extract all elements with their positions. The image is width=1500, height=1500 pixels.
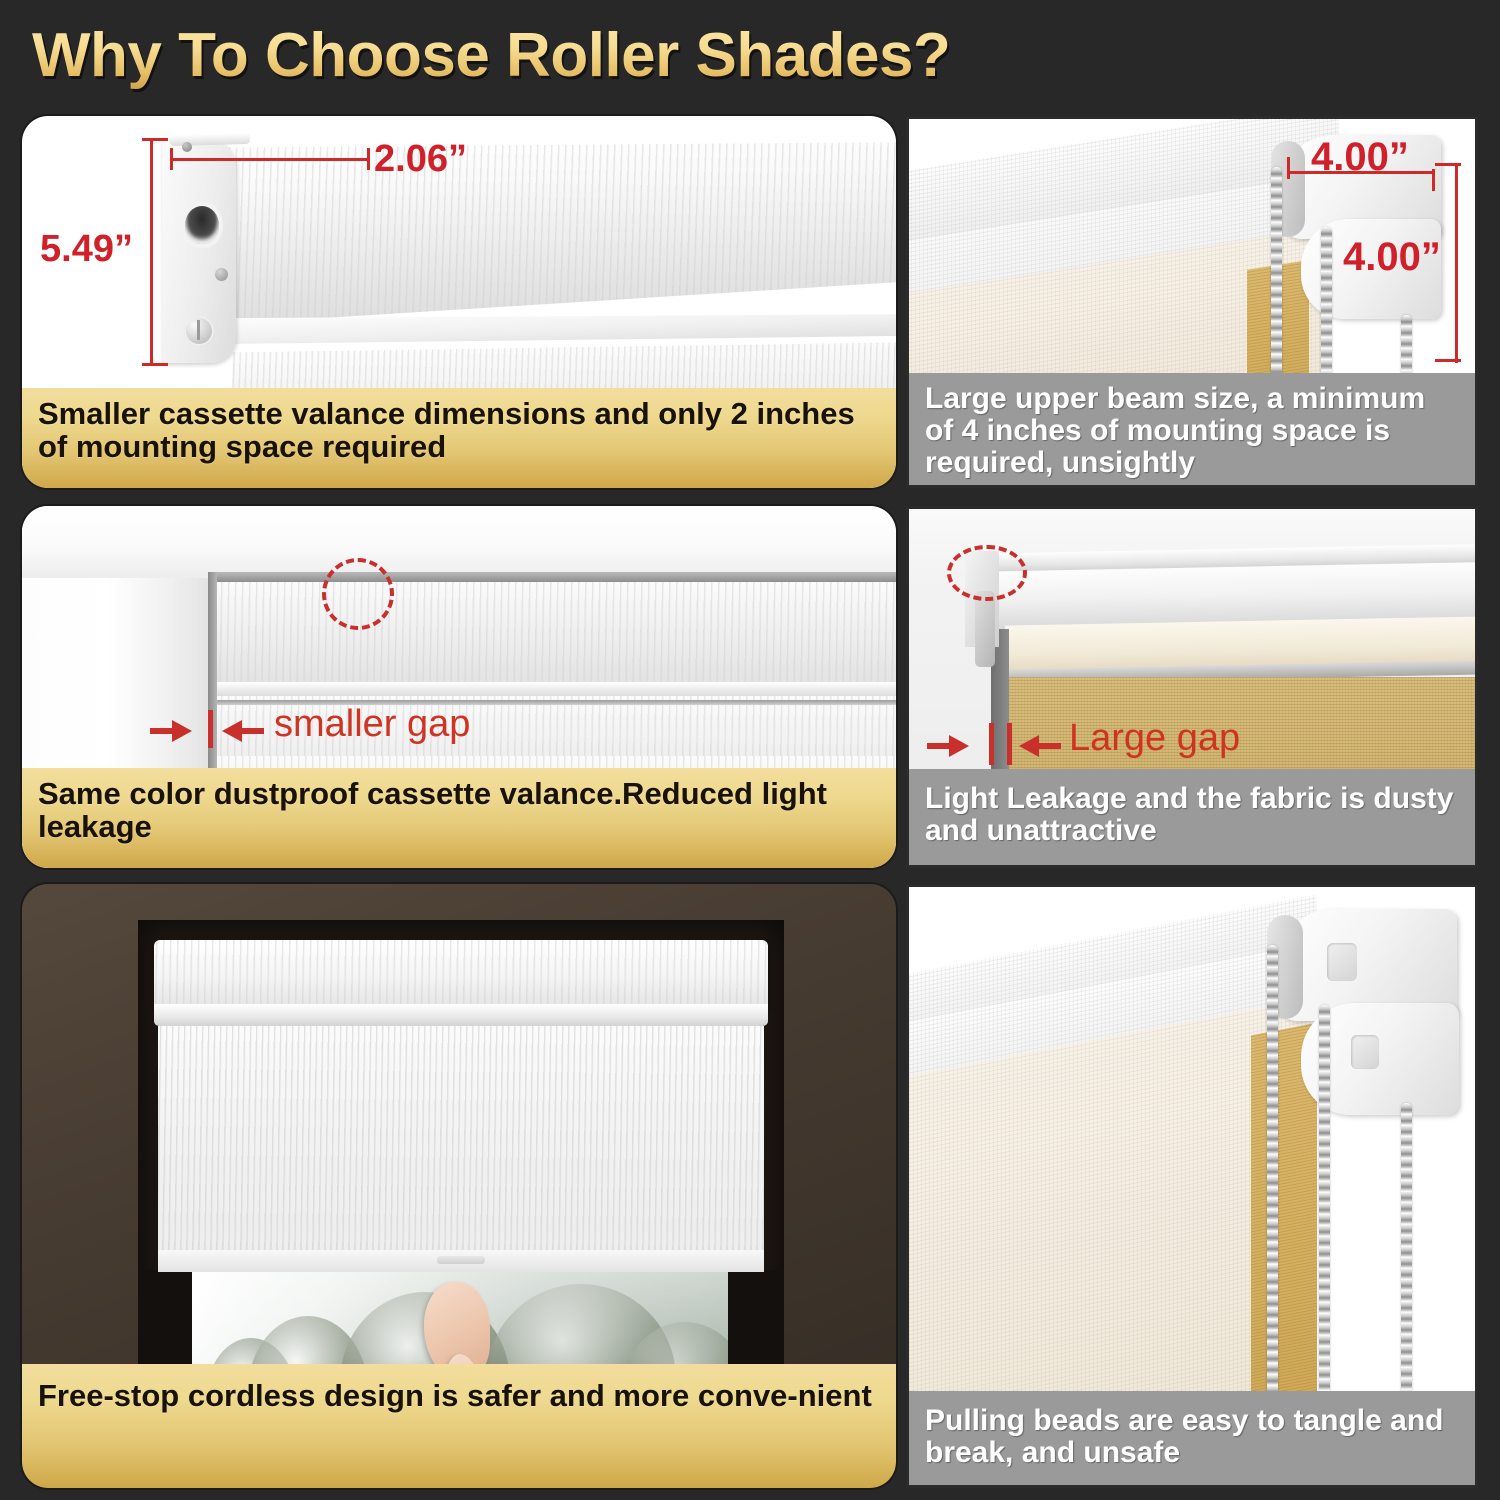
height-tick-bottom [142,363,168,366]
gap-arrow-left-stem [927,743,949,749]
cassette-headrail-lip [154,1004,768,1026]
depth-tick-right [367,148,370,170]
height-dimension-line [150,138,153,366]
cassette-top-screw [182,142,192,152]
window-frame-top [22,506,896,578]
callout-circle-leak [947,545,1027,601]
callout-circle-gap [322,558,394,630]
caption-pro-cordless-design: Free-stop cordless design is safer and m… [22,1364,896,1488]
cassette-end-cap [162,138,236,363]
gap-marker-bar-outer [989,723,994,765]
valance-top-edge [212,572,896,582]
bracket-slot-lower [1351,1035,1379,1069]
panel-pro-dustproof-valance: smaller gap Same color dustproof cassett… [22,506,896,868]
beam-height-label: 4.00” [1343,235,1441,280]
panel-con-light-leakage: Large gap Light Leakage and the fabric i… [906,506,1478,868]
page-title: Why To Choose Roller Shades? [32,20,950,91]
gap-arrow-left-stem [150,728,172,734]
gap-arrow-right-head [222,720,242,742]
caption-con-pulling-beads: Pulling beads are easy to tangle and bre… [909,1391,1475,1485]
gap-marker-bar [208,710,213,748]
valance-left-bracket [975,591,995,667]
caption-con-upper-beam-size: Large upper beam size, a minimum of 4 in… [909,373,1475,485]
depth-dimension-label: 2.06” [374,138,467,181]
depth-dimension-line [170,158,370,161]
caption-pro-cassette-size: Smaller cassette valance dimensions and … [22,388,896,488]
gap-arrow-left-head [172,720,192,742]
infographic-root: Why To Choose Roller Shades? [0,0,1500,1500]
valance-face [212,582,896,682]
beam-width-tick-right [1432,169,1435,191]
panel-pro-cassette-size: 2.06” 5.49” Smaller cassette valance dim… [22,116,896,488]
beam-height-tick-top [1435,163,1461,166]
shade-fabric-panel [158,1026,764,1256]
panel-con-upper-beam-size: 4.00” 4.00” Large upper beam size, a min… [906,116,1478,488]
gap-arrow-right-stem [242,728,264,734]
gap-arrow-right-stem [1039,743,1061,749]
beam-height-line [1455,163,1458,363]
gap-arrow-right-head [1019,735,1039,757]
cassette-screw-large [184,316,214,346]
caption-pro-dustproof-valance: Same color dustproof cassette valance.Re… [22,768,896,868]
valance-bottom-lip [212,682,896,696]
depth-tick-left [170,148,173,170]
beam-width-label: 4.00” [1311,135,1409,180]
bracket-slot-upper [1327,943,1357,981]
shade-pull-handle [437,1256,485,1264]
panel-con-pulling-beads: Pulling beads are easy to tangle and bre… [906,884,1478,1488]
caption-con-light-leakage: Light Leakage and the fabric is dusty an… [909,769,1475,865]
gap-callout-label: smaller gap [274,703,470,746]
gap-callout-label: Large gap [1069,717,1240,760]
gap-marker-bar-inner [1007,723,1012,765]
height-tick-top [142,138,168,141]
cassette-headrail [154,940,768,1010]
bead-chain-middle [1319,1005,1330,1405]
bead-chain-right [1401,1103,1412,1405]
comparison-grid: 2.06” 5.49” Smaller cassette valance dim… [0,110,1500,1500]
gap-arrow-left-head [949,735,969,757]
height-dimension-label: 5.49” [40,228,133,271]
panel-pro-cordless-design: Free-stop cordless design is safer and m… [22,884,896,1488]
beam-width-tick-left [1287,157,1290,179]
cassette-bearing-hole [185,206,219,244]
beam-height-tick-bottom [1435,359,1461,362]
cassette-screw-small [215,268,228,281]
bead-chain-left [1267,945,1278,1405]
